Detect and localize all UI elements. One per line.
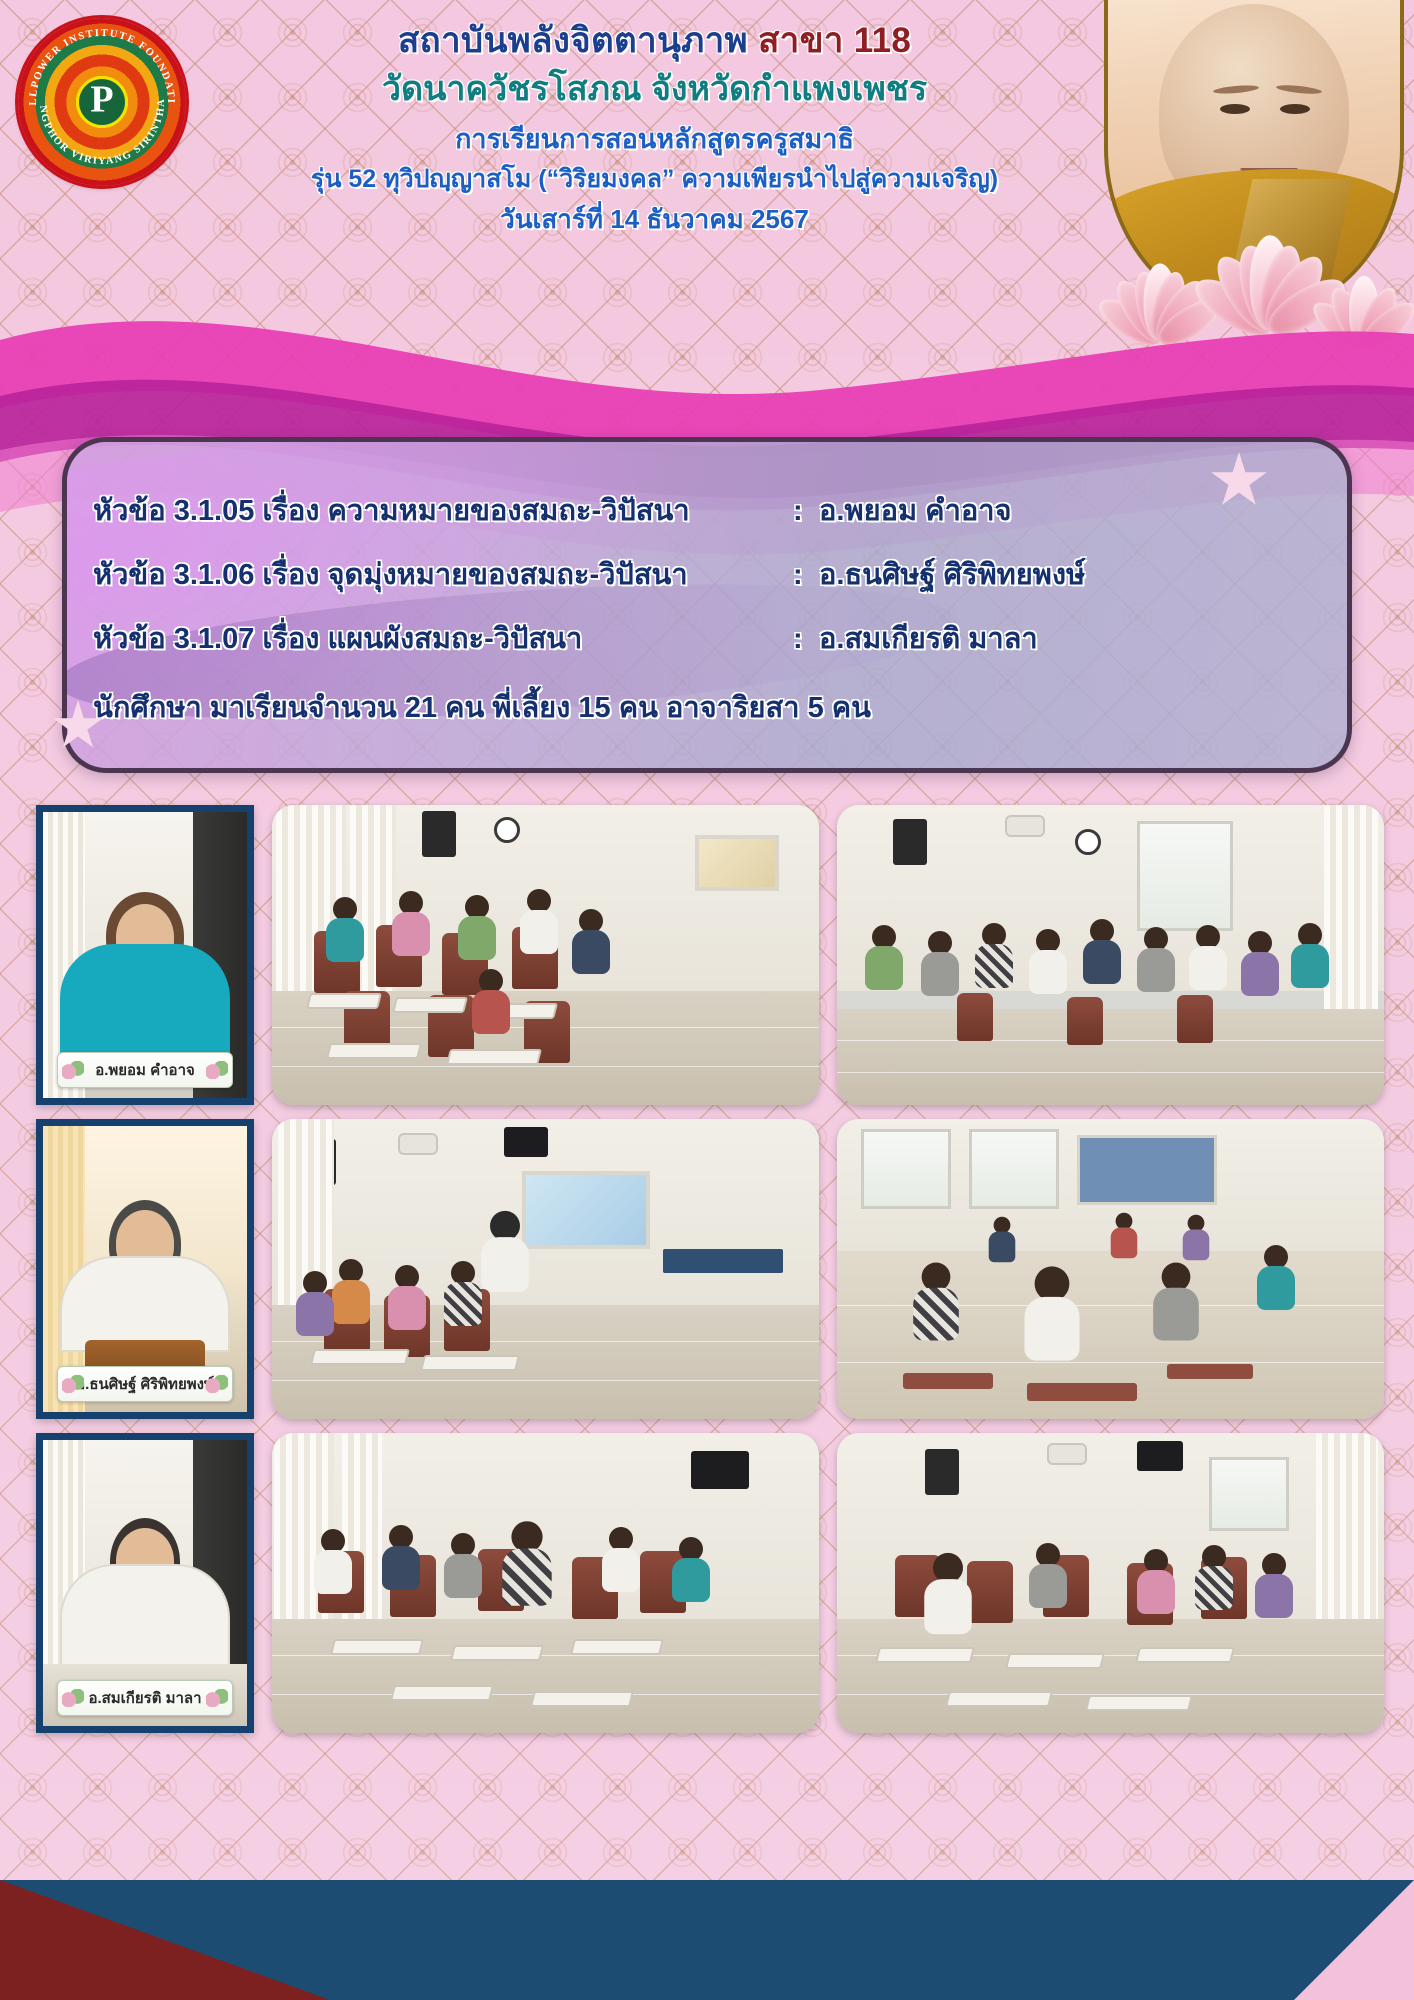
- poster-header: P WILLPOWER INSTITUTE FOUNDATION LUANGPH…: [0, 0, 1414, 330]
- course-title: การเรียนการสอนหลักสูตรครูสมาธิ: [195, 125, 1114, 154]
- institute-logo: P WILLPOWER INSTITUTE FOUNDATION LUANGPH…: [18, 18, 186, 186]
- title-institute-line: สถาบันพลังจิตตานุภาพ สาขา 118: [195, 22, 1114, 59]
- footer-bar: [0, 1880, 1414, 2000]
- institute-name: สถาบันพลังจิตตานุภาพ: [398, 21, 748, 60]
- photo-gallery: อ.พยอม คำอาจ: [36, 805, 1384, 1733]
- gallery-photo-seated-meditation: [837, 1119, 1384, 1419]
- topic-instructor: อ.ธนศิษฐ์ ศิริพิทยพงษ์: [819, 551, 1347, 597]
- event-date: วันเสาร์ที่ 14 ธันวาคม 2567: [195, 206, 1114, 234]
- instructor-portrait: อ.ธนศิษฐ์ ศิริพิทยพงษ์: [36, 1119, 254, 1419]
- topic-instructor: อ.พยอม คำอาจ: [819, 487, 1347, 533]
- topic-row: หัวข้อ 3.1.06 เรื่อง จุดมุ่งหมายของสมถะ-…: [93, 551, 1347, 597]
- footer-right-cap: [1294, 1880, 1414, 2000]
- logo-ring-text: WILLPOWER INSTITUTE FOUNDATION LUANGPHOR…: [18, 18, 186, 186]
- temple-name: วัดนาควัชรโสภณ จังหวัดกำแพงเพชร: [195, 71, 1114, 107]
- logo-bottom-text: LUANGPHOR VIRIYANG SIRINTHARO: [18, 18, 167, 167]
- portrait-caption: อ.สมเกียรติ มาลา: [57, 1680, 233, 1716]
- gallery-photo-lecture-projector: [272, 1119, 819, 1419]
- gallery-photo-classroom-seated: [272, 805, 819, 1105]
- header-text-block: สถาบันพลังจิตตานุภาพ สาขา 118 วัดนาควัชร…: [195, 22, 1114, 234]
- batch-info: รุ่น 52 ทุวิปญฺญาสโม (“วิริยมงคล” ความเพ…: [195, 166, 1114, 193]
- branch-number: สาขา 118: [758, 21, 911, 60]
- topic-title: หัวข้อ 3.1.06 เรื่อง จุดมุ่งหมายของสมถะ-…: [93, 551, 793, 597]
- attendance-summary: นักศึกษา มาเรียนจำนวน 21 คน พี่เลี้ยง 15…: [93, 684, 1347, 730]
- instructor-portrait: อ.พยอม คำอาจ: [36, 805, 254, 1105]
- topic-colon: :: [793, 623, 819, 656]
- logo-top-text: WILLPOWER INSTITUTE FOUNDATION: [18, 18, 176, 106]
- topic-row: หัวข้อ 3.1.07 เรื่อง แผนผังสมถะ-วิปัสนา …: [93, 615, 1347, 661]
- topic-title: หัวข้อ 3.1.05 เรื่อง ความหมายของสมถะ-วิป…: [93, 487, 793, 533]
- topic-colon: :: [793, 559, 819, 592]
- gallery-photo-classroom-wide: [837, 1433, 1384, 1733]
- topic-title: หัวข้อ 3.1.07 เรื่อง แผนผังสมถะ-วิปัสนา: [93, 615, 793, 661]
- portrait-caption: อ.พยอม คำอาจ: [57, 1052, 233, 1088]
- session-info-panel: หัวข้อ 3.1.05 เรื่อง ความหมายของสมถะ-วิป…: [62, 437, 1352, 773]
- lotus-decoration: [1092, 180, 1412, 340]
- gallery-photo-front-row-students: [272, 1433, 819, 1733]
- topic-colon: :: [793, 495, 819, 528]
- instructor-portrait: อ.สมเกียรติ มาลา: [36, 1433, 254, 1733]
- portrait-caption: อ.ธนศิษฐ์ ศิริพิทยพงษ์: [57, 1366, 233, 1402]
- topic-instructor: อ.สมเกียรติ มาลา: [819, 615, 1347, 661]
- footer-red-wedge: [0, 1880, 330, 2000]
- gallery-photo-group-standing: [837, 805, 1384, 1105]
- topic-row: หัวข้อ 3.1.05 เรื่อง ความหมายของสมถะ-วิป…: [93, 487, 1347, 533]
